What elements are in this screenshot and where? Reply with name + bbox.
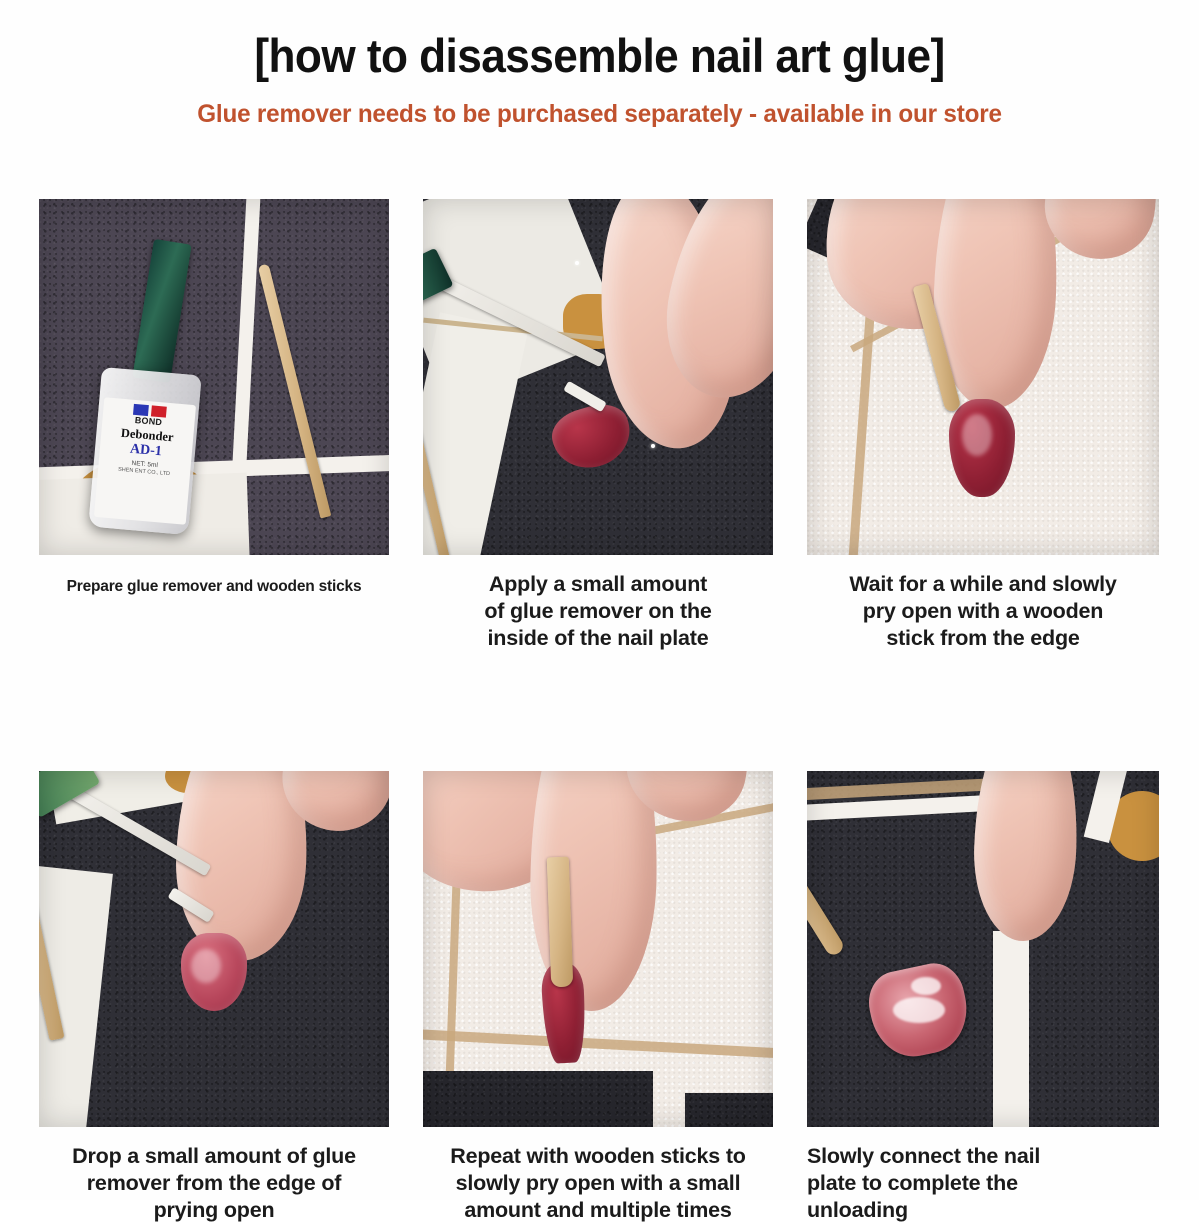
nail-gloss [962,414,992,456]
dark-mat-bottom-left [423,1071,653,1127]
step-photo-3 [807,199,1159,555]
step-photo-6 [807,771,1159,1127]
step-card-6: Slowly connect the nail plate to complet… [807,771,1159,1224]
page-title: [how to disassemble nail art glue] [36,30,1163,82]
header: [how to disassemble nail art glue] Glue … [0,0,1199,129]
step-card-4: Drop a small amount of glue remover from… [39,771,389,1224]
step-caption-4: Drop a small amount of glue remover from… [39,1127,389,1224]
step-photo-5 [423,771,773,1127]
wooden-stick [547,857,574,988]
steps-grid: BOND Debonder AD-1 NET: 5ml SHEN ENT CO.… [39,199,1160,1224]
mat-line-vertical [993,931,1029,1127]
row-gap [39,652,389,771]
row-gap [807,652,1159,771]
dark-mat-bottom-right [685,1093,773,1127]
step-photo-4 [39,771,389,1127]
step-caption-1: Prepare glue remover and wooden sticks [39,555,389,597]
step-card-3: Wait for a while and slowly pry open wit… [807,199,1159,652]
bottle-label: BOND Debonder AD-1 NET: 5ml SHEN ENT CO.… [94,397,196,525]
step-card-2: Apply a small amount of glue remover on … [423,199,773,652]
step-photo-2 [423,199,773,555]
step-photo-1: BOND Debonder AD-1 NET: 5ml SHEN ENT CO.… [39,199,389,555]
step-caption-3: Wait for a while and slowly pry open wit… [807,555,1159,652]
page-subtitle: Glue remover needs to be purchased separ… [18,100,1181,129]
nail-gloss [191,949,221,983]
step-card-5: Repeat with wooden sticks to slowly pry … [423,771,773,1224]
step-caption-6: Slowly connect the nail plate to complet… [807,1127,1159,1224]
sparkle-dot [651,444,655,448]
step-caption-2: Apply a small amount of glue remover on … [423,555,773,652]
row-gap [423,652,773,771]
infographic-page: [how to disassemble nail art glue] Glue … [0,0,1199,1200]
step-caption-5: Repeat with wooden sticks to slowly pry … [423,1127,773,1224]
sparkle-dot [575,261,579,265]
step-card-1: BOND Debonder AD-1 NET: 5ml SHEN ENT CO.… [39,199,389,652]
